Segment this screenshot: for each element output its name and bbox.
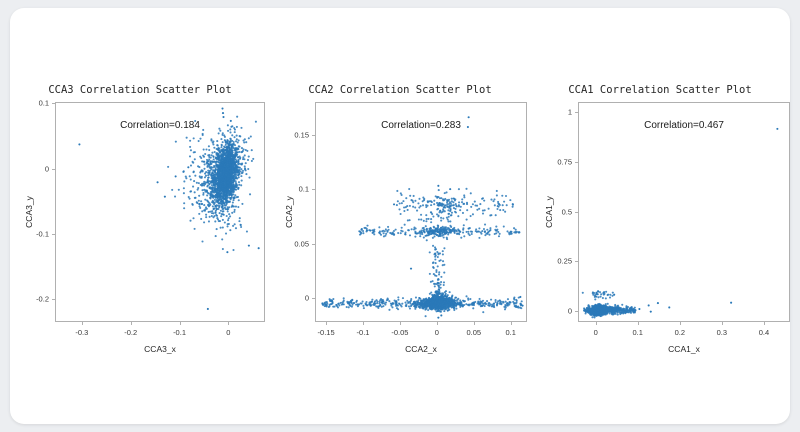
x-tick-mark — [474, 322, 475, 325]
scatter-figure: CCA3 Correlation Scatter Plot Correlatio… — [10, 8, 790, 424]
x-tick-mark — [326, 322, 327, 325]
x-tick-label: -0.1 — [357, 328, 370, 337]
x-tick-label: -0.15 — [318, 328, 335, 337]
y-tick-mark — [575, 261, 578, 262]
y-tick-mark — [312, 135, 315, 136]
x-tick-label: 0.2 — [675, 328, 685, 337]
x-tick-mark — [680, 322, 681, 325]
x-tick-label: 0 — [435, 328, 439, 337]
y-tick-mark — [575, 212, 578, 213]
chart-title-cca1: CCA1 Correlation Scatter Plot — [530, 84, 790, 96]
x-tick-label: 0.05 — [467, 328, 482, 337]
y-tick-label: 0.5 — [550, 207, 572, 216]
x-tick-mark — [511, 322, 512, 325]
y-tick-mark — [575, 311, 578, 312]
y-tick-mark — [312, 189, 315, 190]
y-tick-label: 0.75 — [550, 157, 572, 166]
chart-panel-cca2: CCA2 Correlation Scatter Plot Correlatio… — [270, 8, 530, 424]
x-tick-mark — [82, 322, 83, 325]
x-tick-mark — [437, 322, 438, 325]
y-tick-mark — [52, 169, 55, 170]
y-tick-label: 0.1 — [27, 99, 49, 108]
y-axis-label-cca2: CCA2_y — [284, 196, 294, 228]
x-axis-label-cca2: CCA2_x — [405, 344, 437, 354]
x-tick-mark — [764, 322, 765, 325]
x-tick-label: 0.1 — [633, 328, 643, 337]
scatter-points-cca2 — [315, 102, 527, 322]
y-tick-mark — [575, 162, 578, 163]
x-tick-mark — [596, 322, 597, 325]
correlation-annotation-cca3: Correlation=0.184 — [55, 120, 265, 131]
x-tick-mark — [363, 322, 364, 325]
chart-title-cca2: CCA2 Correlation Scatter Plot — [270, 84, 530, 96]
x-tick-mark — [228, 322, 229, 325]
chart-panel-cca1: CCA1 Correlation Scatter Plot Correlatio… — [530, 8, 790, 424]
correlation-annotation-cca1: Correlation=0.467 — [578, 120, 790, 131]
x-tick-mark — [180, 322, 181, 325]
y-tick-label: 0 — [550, 307, 572, 316]
x-tick-mark — [131, 322, 132, 325]
x-tick-mark — [400, 322, 401, 325]
y-tick-label: -0.1 — [27, 229, 49, 238]
y-axis-label-cca3: CCA3_y — [24, 196, 34, 228]
x-tick-label: -0.1 — [173, 328, 186, 337]
x-tick-mark — [722, 322, 723, 325]
x-tick-label: 0 — [226, 328, 230, 337]
y-tick-label: 0.1 — [287, 185, 309, 194]
correlation-annotation-cca2: Correlation=0.283 — [315, 120, 527, 131]
y-tick-label: 0 — [287, 294, 309, 303]
y-tick-mark — [52, 234, 55, 235]
chart-panel-cca3: CCA3 Correlation Scatter Plot Correlatio… — [10, 8, 270, 424]
scatter-points-cca3 — [55, 102, 265, 322]
y-tick-label: 0.05 — [287, 239, 309, 248]
x-axis-label-cca1: CCA1_x — [668, 344, 700, 354]
y-tick-mark — [312, 298, 315, 299]
x-axis-label-cca3: CCA3_x — [144, 344, 176, 354]
y-tick-mark — [312, 244, 315, 245]
x-tick-label: 0.1 — [506, 328, 516, 337]
y-tick-mark — [575, 112, 578, 113]
x-tick-label: 0.3 — [717, 328, 727, 337]
y-tick-mark — [52, 299, 55, 300]
y-tick-mark — [52, 103, 55, 104]
y-tick-label: 1 — [550, 107, 572, 116]
y-tick-label: 0.25 — [550, 257, 572, 266]
y-tick-label: -0.2 — [27, 295, 49, 304]
scatter-points-cca1 — [578, 102, 790, 322]
chart-title-cca3: CCA3 Correlation Scatter Plot — [10, 84, 270, 96]
figure-card: CCA3 Correlation Scatter Plot Correlatio… — [10, 8, 790, 424]
y-tick-label: 0 — [27, 164, 49, 173]
x-tick-label: 0 — [594, 328, 598, 337]
x-tick-mark — [638, 322, 639, 325]
y-tick-label: 0.15 — [287, 130, 309, 139]
x-tick-label: -0.3 — [75, 328, 88, 337]
x-tick-label: -0.2 — [124, 328, 137, 337]
x-tick-label: -0.05 — [391, 328, 408, 337]
x-tick-label: 0.4 — [759, 328, 769, 337]
